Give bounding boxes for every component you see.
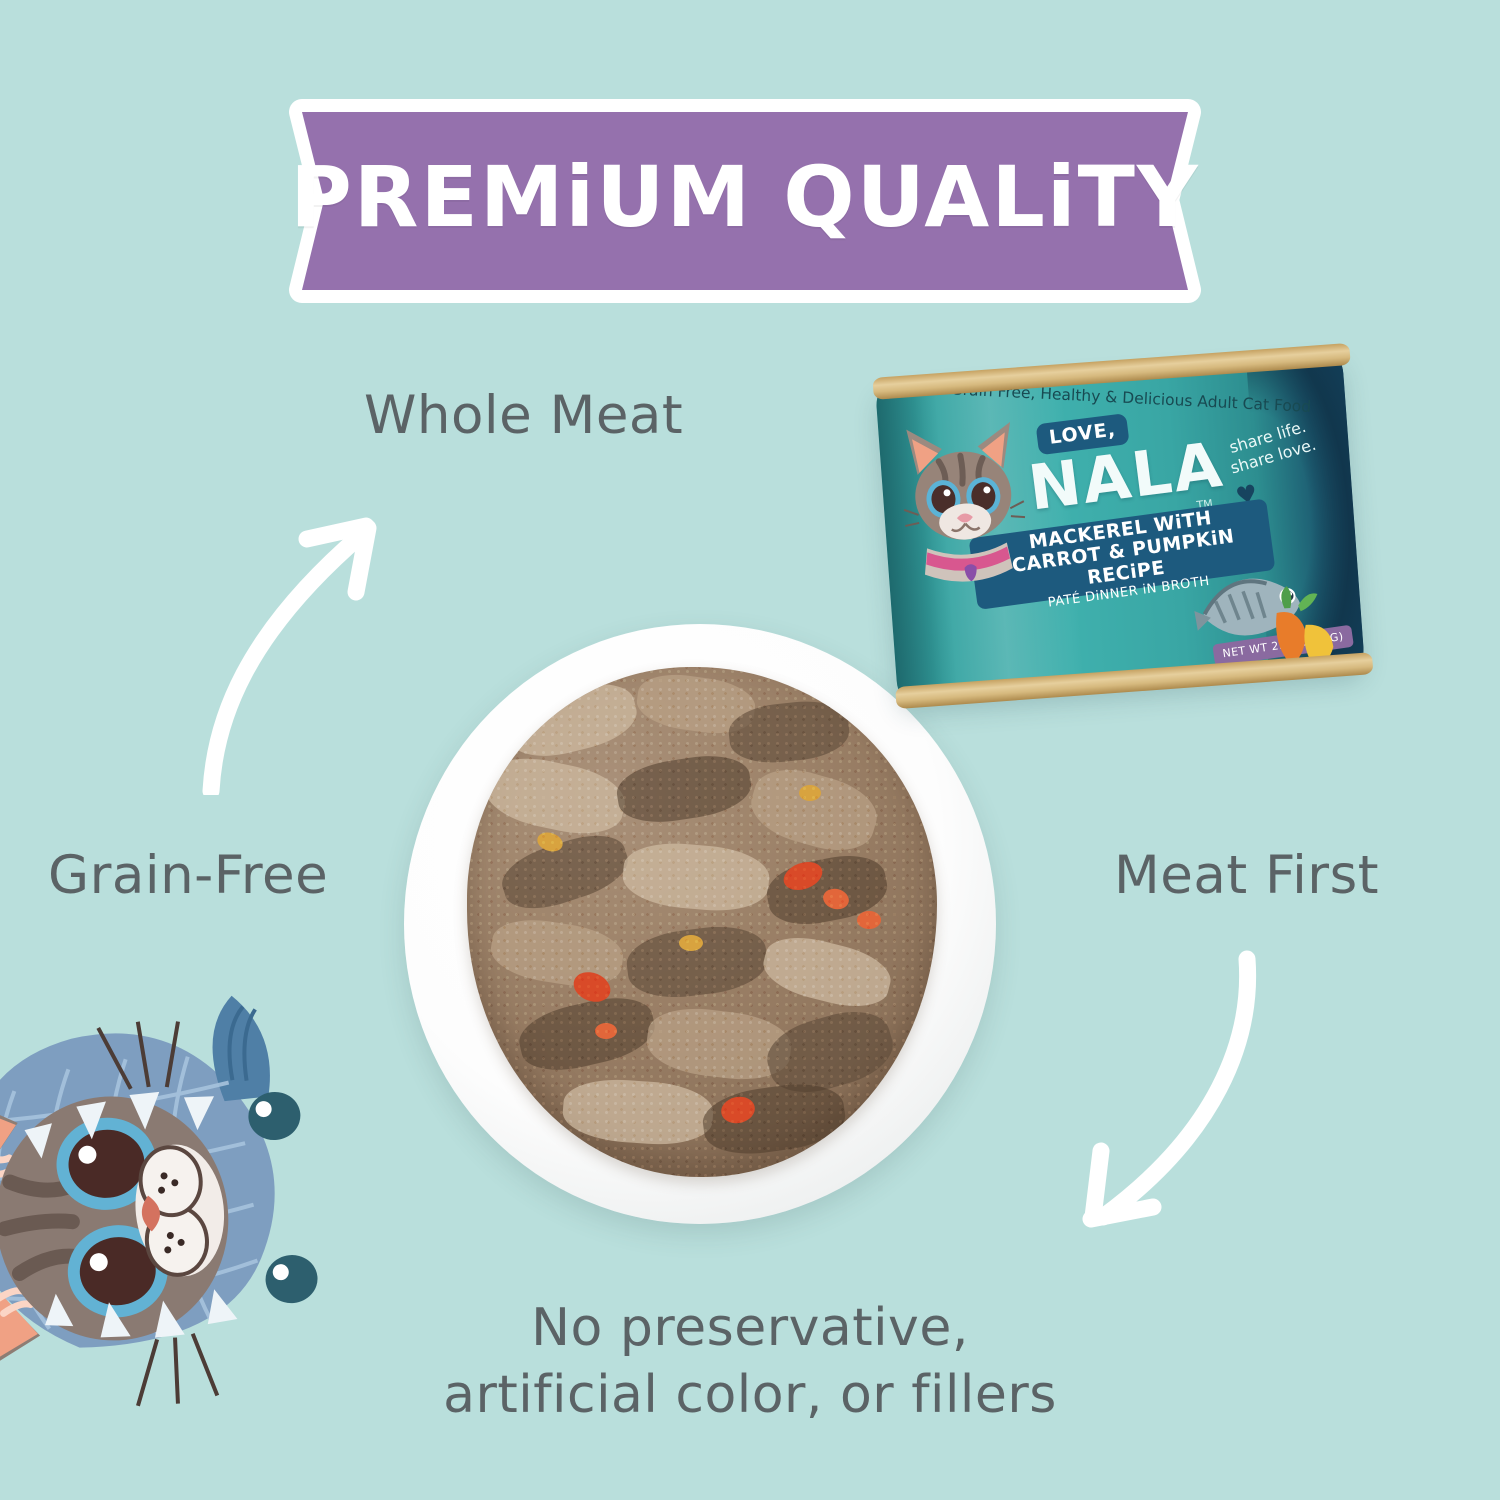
- arrow-up-right-icon: [175, 495, 415, 795]
- feature-label-whole-meat: Whole Meat: [364, 385, 683, 446]
- can-cat-illustration: [895, 409, 1033, 608]
- banner-title: PREMiUM QUALiTY: [276, 92, 1214, 302]
- cat-food-pate: [467, 667, 937, 1177]
- can-label: Grain Free, Healthy & Delicious Adult Ca…: [875, 352, 1365, 703]
- arrow-down-left-icon: [1025, 945, 1285, 1255]
- food-texture: [467, 667, 937, 1177]
- product-can: Grain Free, Healthy & Delicious Adult Ca…: [866, 341, 1379, 714]
- can-fish-veg-illustration: [1188, 542, 1346, 673]
- feature-label-meat-first: Meat First: [1114, 845, 1379, 906]
- food-plate: [404, 624, 996, 1224]
- premium-quality-banner: PREMiUM QUALiTY: [276, 96, 1214, 306]
- feature-label-grain-free: Grain-Free: [48, 845, 328, 906]
- product-feature-graphic: PREMiUM QUALiTY Whole Meat Grain-Free Me…: [0, 0, 1500, 1500]
- cat-mascot-illustration: [0, 975, 370, 1420]
